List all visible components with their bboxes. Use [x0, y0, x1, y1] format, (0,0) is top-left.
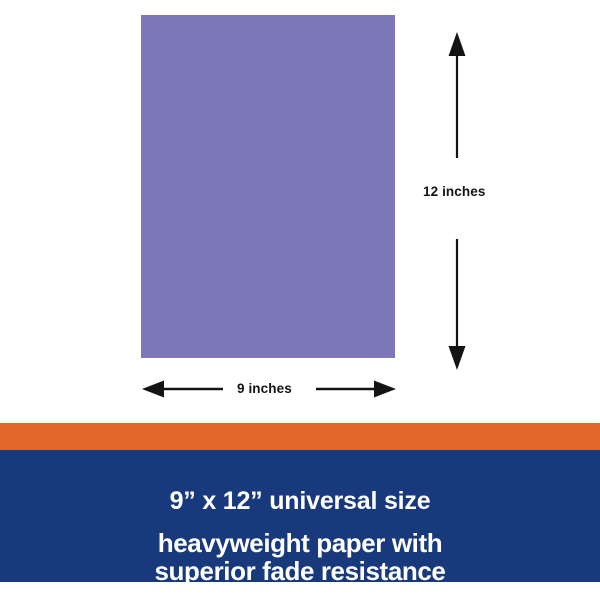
arrow-left-icon [142, 381, 223, 398]
product-feature-banner: 9” x 12” universal size heavyweight pape… [0, 423, 600, 582]
banner-text-panel: 9” x 12” universal size heavyweight pape… [0, 450, 600, 582]
banner-accent-stripe [0, 423, 600, 450]
banner-subline-one: heavyweight paper with [0, 528, 600, 559]
arrow-right-icon [316, 381, 396, 398]
width-dimension-label: 9 inches [237, 381, 292, 396]
height-dimension-label: 12 inches [423, 184, 485, 199]
banner-subline-two: superior fade resistance [0, 556, 600, 587]
paper-sheet-swatch [141, 15, 395, 358]
height-dimension-arrow [440, 30, 474, 372]
arrow-down-icon [449, 239, 466, 370]
product-infographic: 12 inches 9 inches 9” x 12” universal si [0, 0, 600, 600]
paper-dimension-diagram: 12 inches 9 inches [0, 0, 600, 423]
arrow-up-icon [449, 32, 466, 158]
banner-headline-size: 9” x 12” universal size [0, 487, 600, 516]
